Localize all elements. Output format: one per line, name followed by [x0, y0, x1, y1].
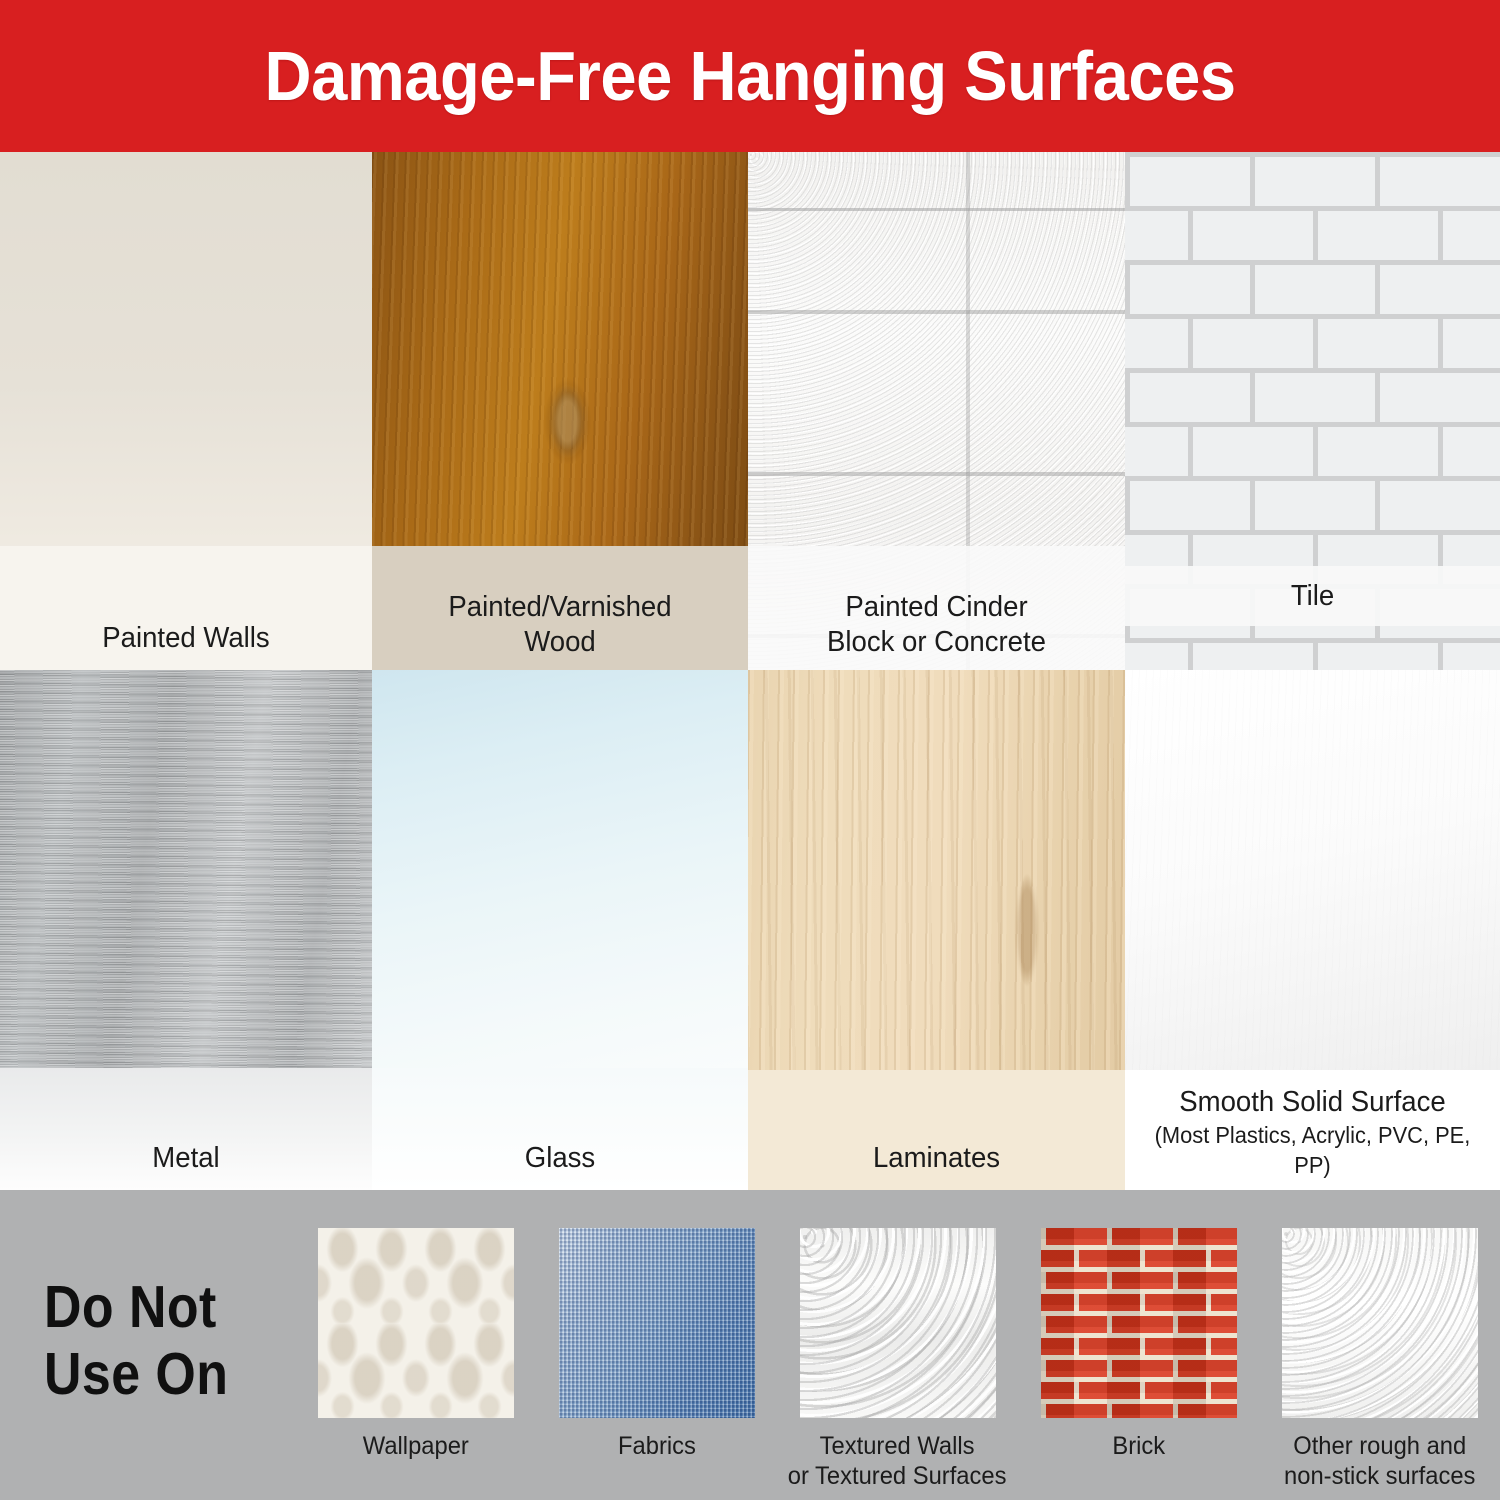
do-not-use-item-fabrics: Fabrics: [536, 1190, 777, 1500]
do-not-use-title-line2: Use On: [44, 1341, 228, 1408]
other-rough-surface-swatch: [1282, 1228, 1478, 1418]
do-not-use-item-other-rough: Other rough and non-stick surfaces: [1259, 1190, 1500, 1500]
surface-label-line1: Smooth Solid Surface: [1179, 1086, 1445, 1118]
do-not-use-items: Wallpaper Fabrics Textured Walls or Text…: [295, 1190, 1500, 1500]
do-not-use-title-line1: Do Not: [44, 1274, 228, 1341]
surface-label-painted-cinder: Painted Cinder Block or Concrete: [757, 590, 1115, 670]
do-not-use-item-wallpaper: Wallpaper: [295, 1190, 536, 1500]
surface-label-painted-walls: Painted Walls: [9, 621, 362, 670]
surface-label-line2: Wood: [381, 625, 738, 660]
do-not-use-item-brick: Brick: [1018, 1190, 1259, 1500]
surface-label-metal: Metal: [9, 1141, 362, 1190]
surface-label-painted-wood: Painted/Varnished Wood: [381, 590, 738, 670]
infographic-page: Damage-Free Hanging Surfaces Painted Wal…: [0, 0, 1500, 1500]
do-not-use-label-line1: Other rough and: [1293, 1432, 1466, 1460]
do-not-use-label-wallpaper: Wallpaper: [362, 1431, 468, 1461]
surface-card-glass: Glass: [372, 670, 748, 1190]
surface-card-tile: Tile: [1125, 152, 1500, 670]
do-not-use-label-line2: non-stick surfaces: [1284, 1462, 1475, 1490]
surface-card-painted-wood: Painted/Varnished Wood: [372, 152, 748, 670]
surface-card-laminates: Laminates: [748, 670, 1125, 1190]
surface-label-laminates: Laminates: [757, 1141, 1115, 1190]
do-not-use-label-line1: Textured Walls: [820, 1432, 975, 1460]
surface-label-glass: Glass: [381, 1141, 738, 1190]
surface-label-line1: Painted/Varnished: [448, 591, 671, 623]
fabrics-swatch: [559, 1228, 755, 1418]
header-banner: Damage-Free Hanging Surfaces: [0, 0, 1500, 152]
surface-label-line2: Block or Concrete: [757, 625, 1115, 660]
do-not-use-label-line2: or Textured Surfaces: [788, 1462, 1007, 1490]
surface-card-painted-cinder: Painted Cinder Block or Concrete: [748, 152, 1125, 670]
do-not-use-label-other-rough: Other rough and non-stick surfaces: [1284, 1431, 1475, 1491]
do-not-use-label-textured-walls: Textured Walls or Textured Surfaces: [788, 1431, 1007, 1491]
surface-label-line1: Painted Cinder: [845, 591, 1027, 623]
do-not-use-label-fabrics: Fabrics: [618, 1431, 696, 1461]
do-not-use-item-textured-walls: Textured Walls or Textured Surfaces: [777, 1190, 1018, 1500]
brick-swatch: [1041, 1228, 1237, 1418]
do-not-use-label-brick: Brick: [1112, 1431, 1165, 1461]
surface-card-painted-walls: Painted Walls: [0, 152, 372, 670]
surface-label-tile: Tile: [1134, 579, 1490, 626]
wallpaper-swatch: [318, 1228, 514, 1418]
surface-card-smooth-solid: Smooth Solid Surface (Most Plastics, Acr…: [1125, 670, 1500, 1190]
approved-surfaces-grid: Painted Walls Painted/Varnished Wood Pai…: [0, 152, 1500, 1190]
do-not-use-title: Do Not Use On: [44, 1274, 228, 1408]
page-title: Damage-Free Hanging Surfaces: [264, 36, 1235, 116]
brick-shading-overlay: [1041, 1228, 1237, 1418]
surface-label-line2: (Most Plastics, Acrylic, PVC, PE, PP): [1134, 1120, 1490, 1180]
surface-card-metal: Metal: [0, 670, 372, 1190]
do-not-use-section: Do Not Use On Wallpaper Fabrics Textured…: [0, 1190, 1500, 1500]
textured-walls-swatch: [800, 1228, 996, 1418]
surface-label-smooth-solid: Smooth Solid Surface (Most Plastics, Acr…: [1134, 1085, 1490, 1190]
